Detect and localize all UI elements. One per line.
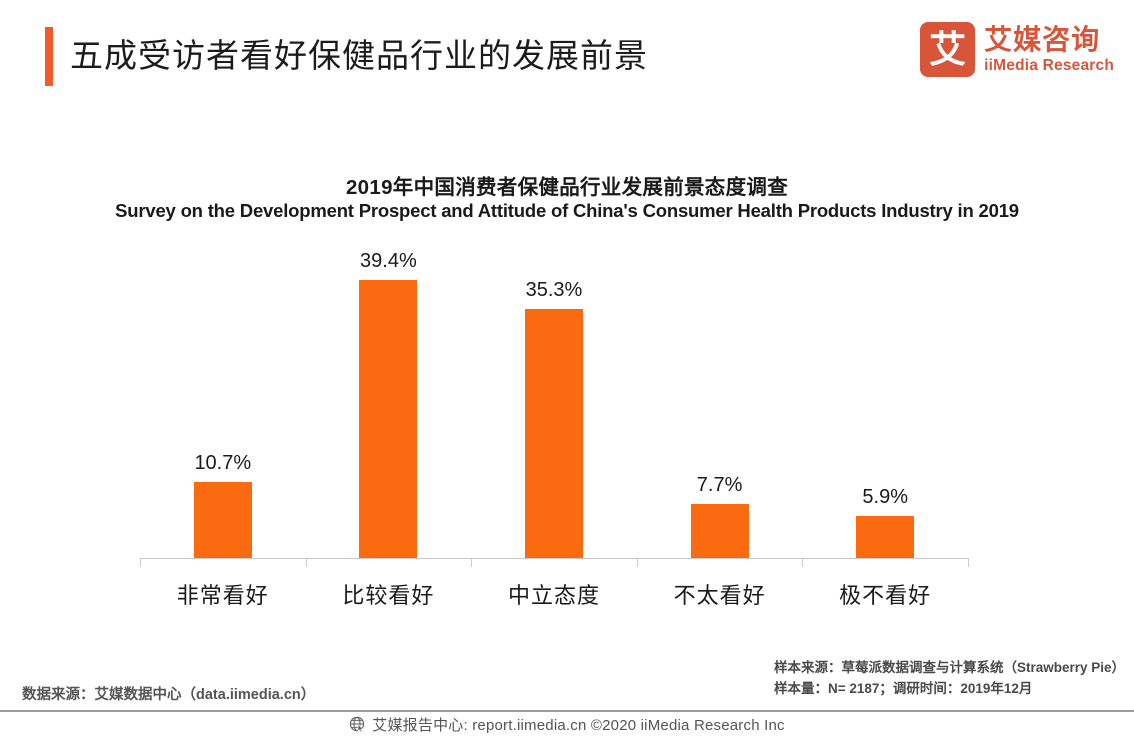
globe-cursor-icon <box>349 716 366 733</box>
page-header: 五成受访者看好保健品行业的发展前景 艾 艾媒咨询 iiMedia Researc… <box>0 0 1134 112</box>
iimedia-logo: 艾 艾媒咨询 iiMedia Research <box>920 22 1114 77</box>
axis-tick <box>968 558 969 567</box>
chart-title: 2019年中国消费者保健品行业发展前景态度调查 <box>0 170 1134 200</box>
axis-tick <box>471 558 472 567</box>
axis-tick <box>140 558 141 567</box>
bar-slot: 35.3% <box>471 240 637 558</box>
logo-en-name: iiMedia Research <box>984 58 1114 74</box>
bar[interactable] <box>691 504 749 558</box>
axis-tick <box>306 558 307 567</box>
axis-tick <box>637 558 638 567</box>
axis-tick <box>802 558 803 567</box>
category-label: 不太看好 <box>637 578 803 610</box>
data-source-note: 数据来源：艾媒数据中心（data.iimedia.cn） <box>22 683 315 704</box>
bar[interactable] <box>194 482 252 558</box>
bar-slot: 5.9% <box>802 240 968 558</box>
bar-slot: 10.7% <box>140 240 306 558</box>
bar-chart-plot: 10.7%39.4%35.3%7.7%5.9% <box>140 240 968 558</box>
logo-mark-icon: 艾 <box>920 22 975 77</box>
bar-value-label: 10.7% <box>194 452 251 475</box>
bar-value-label: 35.3% <box>526 279 583 302</box>
logo-text: 艾媒咨询 iiMedia Research <box>984 26 1114 74</box>
sample-size-note: 样本量：N= 2187；调研时间：2019年12月 <box>774 678 1125 699</box>
bar[interactable] <box>525 309 583 558</box>
header-accent-bar <box>45 27 53 86</box>
page-footer: 艾媒报告中心: report.iimedia.cn ©2020 iiMedia … <box>0 712 1134 737</box>
footer-text: 艾媒报告中心: report.iimedia.cn ©2020 iiMedia … <box>372 714 784 735</box>
bar-value-label: 39.4% <box>360 250 417 273</box>
page-title: 五成受访者看好保健品行业的发展前景 <box>70 27 648 85</box>
category-label: 非常看好 <box>140 578 306 610</box>
bar[interactable] <box>856 516 914 558</box>
x-axis-line <box>140 558 968 559</box>
chart-subtitle: Survey on the Development Prospect and A… <box>0 200 1134 222</box>
bar-value-label: 7.7% <box>697 474 743 497</box>
category-label: 比较看好 <box>306 578 472 610</box>
bar-slot: 7.7% <box>637 240 803 558</box>
sample-source-note: 样本来源：草莓派数据调查与计算系统（Strawberry Pie） <box>774 657 1125 678</box>
x-axis-category-labels: 非常看好比较看好中立态度不太看好极不看好 <box>140 578 968 614</box>
bar[interactable] <box>359 280 417 558</box>
logo-cn-name: 艾媒咨询 <box>984 26 1114 54</box>
category-label: 极不看好 <box>802 578 968 610</box>
category-label: 中立态度 <box>471 578 637 610</box>
bar-slot: 39.4% <box>306 240 472 558</box>
bar-value-label: 5.9% <box>862 486 908 509</box>
sample-notes: 样本来源：草莓派数据调查与计算系统（Strawberry Pie） 样本量：N=… <box>774 657 1125 699</box>
